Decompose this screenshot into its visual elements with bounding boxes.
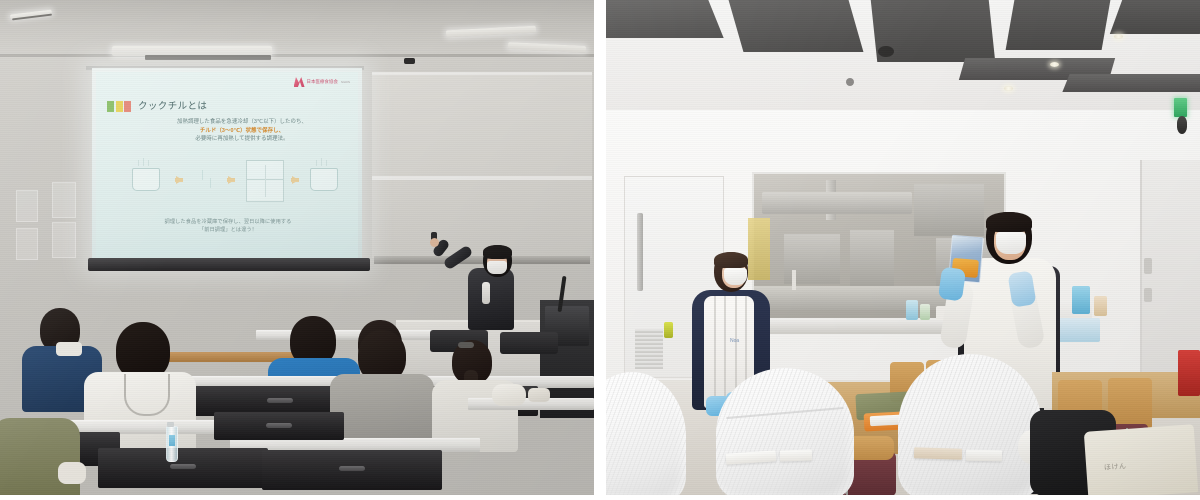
diagram-chiller-icon <box>246 160 284 202</box>
slide-body-line-1: 加熱調理した食品を急速冷却（3℃以下）したのち、 <box>132 118 352 127</box>
whiteboard <box>372 72 592 258</box>
slide-footer: 調理した食品を冷蔵庫で保存し、翌日以降に使用する 「前日調理」とは違う！ <box>120 218 336 234</box>
presentation-slide: 日本医療食協会 NIHON クックチルとは 加熱調理した食品を急速冷却（3℃以下… <box>96 72 358 258</box>
uniform-logo-text: Noa <box>730 338 739 344</box>
chef-face-mask <box>996 232 1026 254</box>
slide-logo-text: 日本医療食協会 <box>307 79 338 85</box>
water-bottle <box>166 426 178 462</box>
kitchen-cabinet <box>914 184 984 236</box>
slide-process-diagram <box>122 158 334 210</box>
counter-bottle-2 <box>920 304 930 320</box>
screen-case <box>88 258 370 271</box>
diagram-arrow-1-icon <box>176 176 183 184</box>
chef-glove-left <box>938 266 966 301</box>
wall-poster-4 <box>52 222 76 258</box>
ceiling-beam-2 <box>729 0 864 52</box>
red-container <box>1178 350 1200 396</box>
paper-bag-text: ほけん <box>1104 461 1127 473</box>
ceiling-beam-7 <box>1062 74 1200 92</box>
kitchen-unit-2 <box>850 230 894 286</box>
paper-bag <box>1084 424 1198 495</box>
chair-back-far-2 <box>500 332 558 354</box>
shelf-bottle-beige <box>1094 296 1107 316</box>
presenter-hand <box>430 238 439 247</box>
company-logo-icon <box>294 77 305 87</box>
diagram-chill-icon-2 <box>206 178 216 188</box>
ceiling-seam <box>0 54 594 57</box>
presenter-hair <box>483 245 512 259</box>
ceiling-beam-4 <box>1006 0 1111 50</box>
shelf-bottle-blue <box>1072 286 1090 314</box>
slide-body: 加熱調理した食品を急速冷却（3℃以下）したのち、 チルド（3〜0℃）状態で保存し… <box>132 118 352 144</box>
desk-bag-item <box>492 384 526 406</box>
water-bottle-cap <box>167 422 174 427</box>
slide-footer-line-1: 調理した食品を冷蔵庫で保存し、翌日以降に使用する <box>120 218 336 226</box>
presenter-body <box>468 268 514 330</box>
slide-body-line-2: チルド（3〜0℃）状態で保存し、 <box>132 127 352 136</box>
exit-sign-icon <box>1174 98 1187 117</box>
ceiling-sensor <box>404 58 415 64</box>
shelf-tray <box>1054 318 1100 342</box>
participant-hood-1-nametag-2 <box>780 449 812 461</box>
kitchen-faucet <box>792 270 796 290</box>
photo-lecture-hall: 日本医療食協会 NIHON クックチルとは 加熱調理した食品を急速冷却（3℃以下… <box>0 0 594 495</box>
ceiling-sensor-dot <box>846 78 854 86</box>
ceiling-speaker <box>878 46 894 57</box>
counter-bottle-1 <box>906 300 918 320</box>
slide-title: クックチルとは <box>138 98 207 112</box>
slide-accent-bars <box>107 101 131 112</box>
diagram-reheated-pot-icon <box>310 168 338 191</box>
wall-speaker <box>1177 116 1187 134</box>
student-sleeve-7 <box>58 462 86 484</box>
ceiling-downlight-3 <box>1114 34 1123 39</box>
slide-footer-line-2: 「前日調理」とは違う！ <box>120 226 336 234</box>
whiteboard-tray <box>374 256 590 264</box>
chef-hair <box>986 212 1032 232</box>
kitchen-warm-light <box>748 218 770 280</box>
ceiling-beam-1 <box>606 0 724 38</box>
kitchen-range-hood <box>762 192 912 214</box>
photo-kitchen-demo: Noa <box>606 0 1200 495</box>
slide-logo-subtext: NIHON <box>341 80 350 84</box>
figure-root: 日本医療食協会 NIHON クックチルとは 加熱調理した食品を急速冷却（3℃以下… <box>0 0 1200 500</box>
desk-front-1c <box>262 450 442 490</box>
hair-clip <box>458 342 474 348</box>
whiteboard-top-rail <box>372 72 592 75</box>
desk-bag-item-2 <box>528 388 550 402</box>
whiteboard-mid-rail <box>372 176 592 180</box>
wall-poster-2 <box>16 228 38 260</box>
diagram-arrow-3-icon <box>292 176 299 184</box>
student-lanyard <box>124 374 170 416</box>
door-right-handle-icon[interactable] <box>1144 258 1152 274</box>
door-key-tag <box>664 322 673 338</box>
door-vent-grille <box>635 329 663 369</box>
staff-woman-hair <box>714 252 748 268</box>
ceiling-downlight-2 <box>1050 62 1059 67</box>
presenter-microphone <box>482 282 490 304</box>
slide-body-line-3: 必要時に再加熱して提供する調理法。 <box>132 135 352 144</box>
desk-front-mid <box>214 412 344 440</box>
participant-hood-2-nametag <box>914 447 962 460</box>
door-handle-icon[interactable] <box>637 213 643 291</box>
wall-poster-1 <box>16 190 38 222</box>
student-collar-1 <box>56 342 82 356</box>
ceiling-light-slot-2 <box>145 55 271 60</box>
door-right-latch-icon <box>1144 288 1152 302</box>
participant-hood-2-nametag-2 <box>966 450 1002 462</box>
chef-glove-right <box>1007 270 1036 307</box>
ceiling-downlight-1 <box>1004 86 1013 91</box>
presenter-face-mask <box>487 261 507 274</box>
slide-logo: 日本医療食協会 NIHON <box>294 77 350 87</box>
desk-front-1b <box>98 448 268 488</box>
desk-row-3 <box>256 330 446 340</box>
diagram-cooked-pot-icon <box>132 168 160 191</box>
staff-woman-face-mask <box>724 268 747 285</box>
participant-hood-2-mesh <box>898 354 1042 495</box>
wall-poster-3 <box>52 182 76 218</box>
participant-hood-1-mesh <box>716 368 854 495</box>
ceiling-beam-5 <box>1110 0 1200 34</box>
diagram-arrow-2-icon <box>228 176 235 184</box>
